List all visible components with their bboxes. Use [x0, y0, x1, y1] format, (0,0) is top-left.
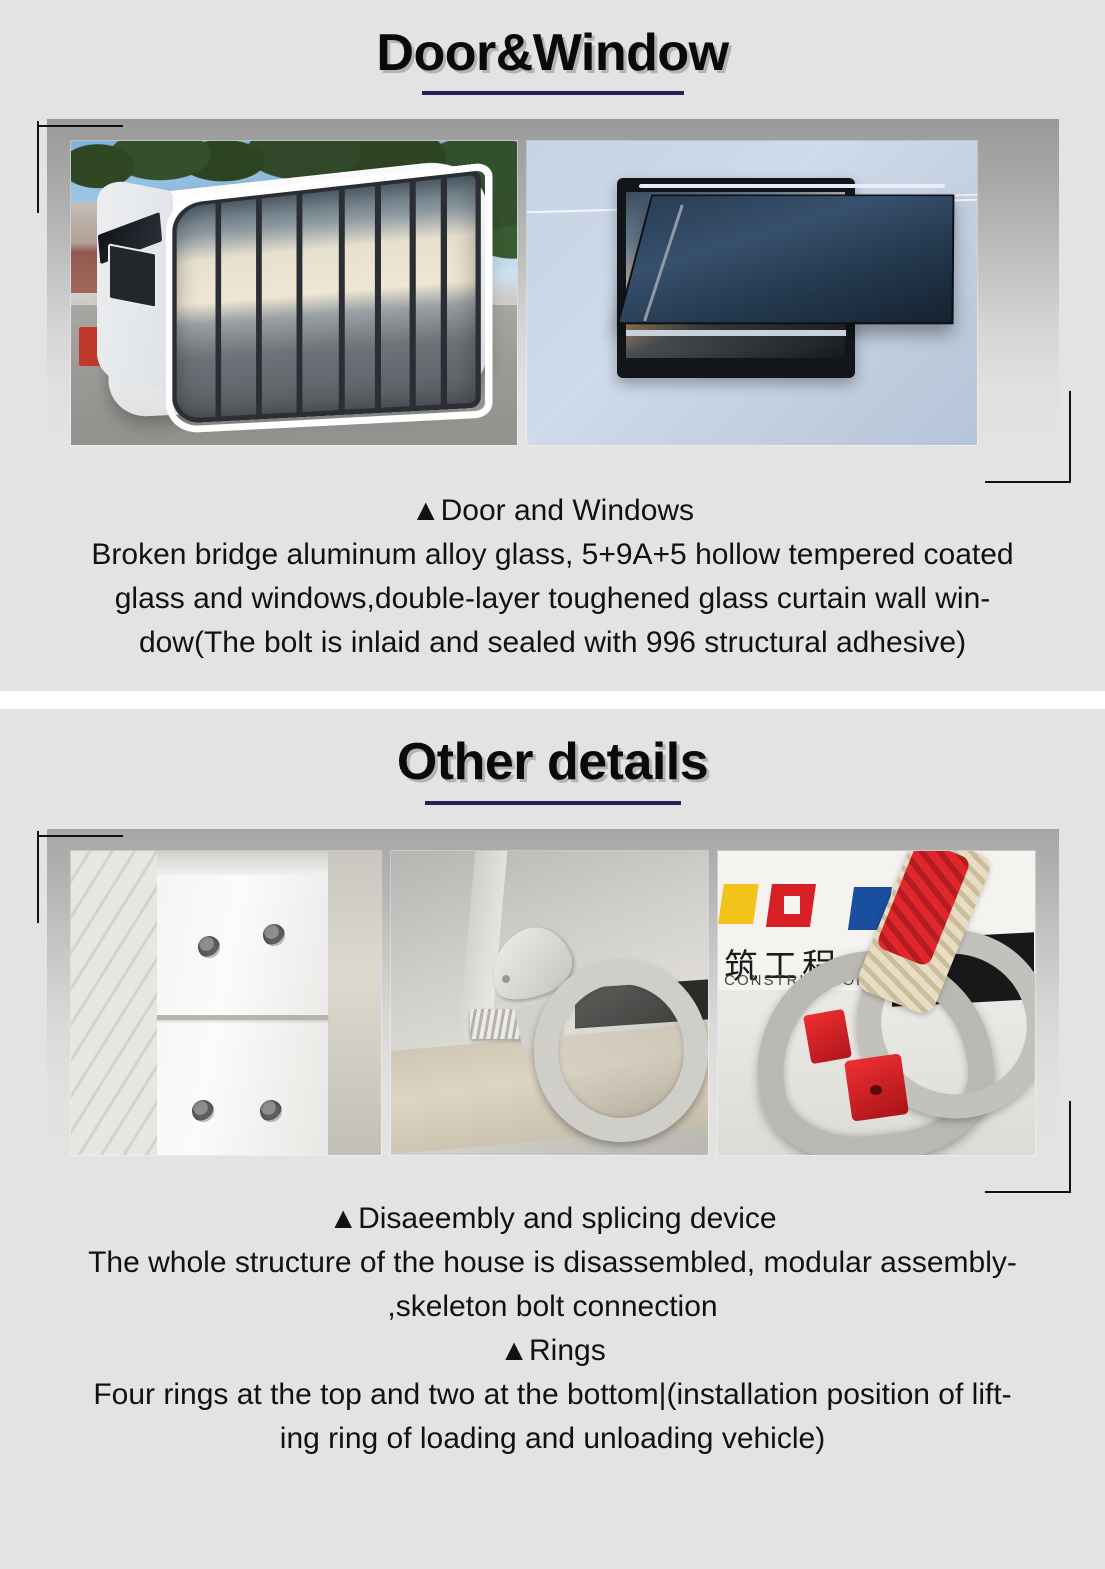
caption-line: ,skeleton bolt connection	[28, 1285, 1077, 1329]
sash-highlight	[639, 184, 946, 188]
tinted-glass-sash	[616, 194, 954, 324]
shackle-pin-hole	[870, 1085, 882, 1095]
section-door-window: Door&Window	[0, 0, 1105, 691]
caption-line: The whole structure of the house is disa…	[28, 1241, 1077, 1285]
bracket-top-left-horizontal	[37, 835, 123, 837]
caption-line: dow(The bolt is inlaid and sealed with 9…	[28, 621, 1077, 665]
other-details-photo-row: 筑工程 CONSTRUCTION	[47, 829, 1059, 1181]
logo-block-yellow	[718, 884, 758, 924]
door-window-photo-panel	[47, 119, 1059, 471]
caption-heading: ▲Door and Windows	[28, 489, 1077, 533]
caption-heading-disassembly: ▲Disaeembly and splicing device	[28, 1197, 1077, 1241]
title-underline-other-details	[425, 801, 681, 805]
door-window-caption: ▲Door and Windows Broken bridge aluminum…	[0, 471, 1105, 691]
bracket-bottom-right-horizontal	[985, 1191, 1071, 1193]
shackle-pin-red	[803, 1008, 852, 1063]
other-details-caption: ▲Disaeembly and splicing device The whol…	[0, 1181, 1105, 1496]
bolt-hole	[260, 1100, 282, 1122]
small-side-window	[108, 243, 157, 308]
ribbed-wall-panel	[71, 851, 167, 1155]
bracket-bottom-right-vertical	[1069, 1101, 1071, 1193]
section-divider	[0, 691, 1105, 709]
bracket-top-left-horizontal	[37, 125, 123, 127]
window-sill	[626, 330, 847, 336]
bracket-top-left-vertical	[37, 121, 39, 213]
bracket-bottom-right-vertical	[1069, 391, 1071, 483]
shackle-rope-sling-photo: 筑工程 CONSTRUCTION	[718, 851, 1035, 1155]
title-underline-door-window	[422, 91, 684, 95]
lifting-eye-ring	[534, 960, 708, 1142]
door-window-photo-row	[47, 119, 1059, 471]
bracket-top-left-vertical	[37, 831, 39, 923]
other-details-photo-panel: 筑工程 CONSTRUCTION	[47, 829, 1059, 1181]
product-detail-page: Door&Window	[0, 0, 1105, 1569]
section-other-details: Other details	[0, 709, 1105, 1495]
logo-block-red-inner	[784, 896, 800, 914]
plate-joint-seam	[157, 1015, 328, 1020]
caption-heading-rings: ▲Rings	[28, 1329, 1077, 1373]
lifting-eye-bolt-photo	[391, 851, 708, 1155]
caption-line: glass and windows,double-layer toughened…	[28, 577, 1077, 621]
caption-line: ing ring of loading and unloading vehicl…	[28, 1417, 1077, 1461]
bolt-hole	[198, 936, 220, 958]
splice-plate-bolt-holes-photo	[71, 851, 382, 1155]
bolt-hole	[263, 924, 285, 946]
capsule-house-exterior-photo	[71, 141, 517, 445]
door-window-title-block: Door&Window	[0, 0, 1105, 95]
page-title-other-details: Other details	[397, 735, 708, 790]
splice-plate	[157, 851, 328, 1155]
plate-top-edge	[157, 851, 328, 875]
caption-line: Broken bridge aluminum alloy glass, 5+9A…	[28, 533, 1077, 577]
awning-window-open-photo	[527, 141, 977, 445]
bracket-bottom-right-horizontal	[985, 481, 1071, 483]
bolt-hole	[192, 1100, 214, 1122]
page-title-door-window: Door&Window	[376, 26, 728, 81]
right-edge-wall	[328, 851, 381, 1155]
caption-line: Four rings at the top and two at the bot…	[28, 1373, 1077, 1417]
white-window-trim	[166, 162, 492, 434]
other-details-title-block: Other details	[0, 709, 1105, 804]
